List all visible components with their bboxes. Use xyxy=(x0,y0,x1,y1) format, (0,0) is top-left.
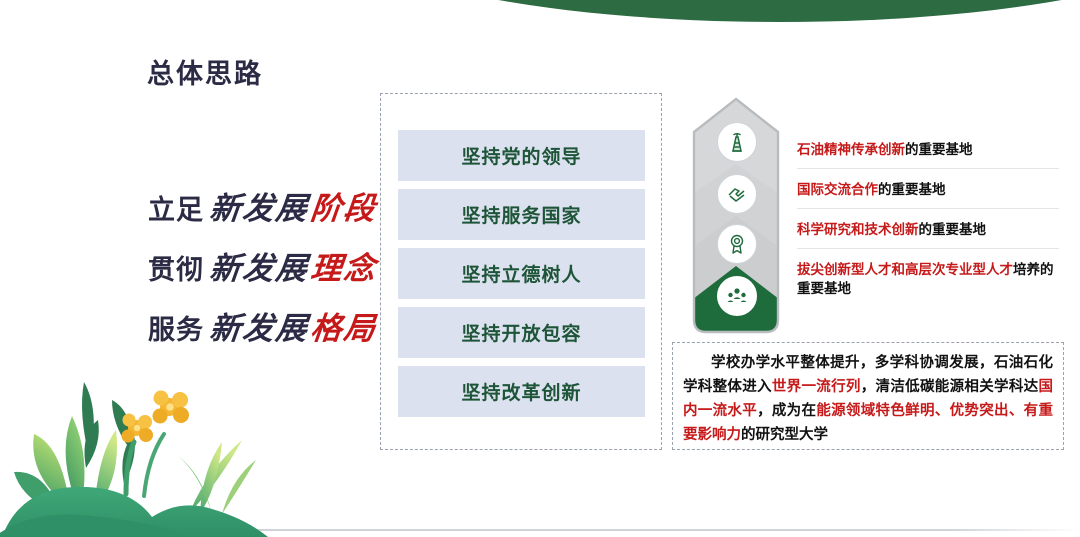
slogan-highlight: 阶段 xyxy=(309,183,380,228)
foliage-decoration xyxy=(0,362,294,537)
shield-diagram xyxy=(690,96,782,336)
page-title: 总体思路 xyxy=(147,52,263,91)
vision-statement-box: 学校办学水平整体提升，多学科协调发展，石油石化学科整体进入世界一流行列，清洁低碳… xyxy=(672,342,1064,450)
slogan-highlight: 格局 xyxy=(309,303,380,348)
principle-pill[interactable]: 坚持开放包容 xyxy=(398,307,645,358)
base-list-item: 科学研究和技术创新的重要基地 xyxy=(797,220,1059,249)
vision-seg: 的研究型大学 xyxy=(741,427,828,443)
handshake-icon xyxy=(717,174,757,214)
principles-list: 坚持党的领导 坚持服务国家 坚持立德树人 坚持开放包容 坚持改革创新 xyxy=(398,130,645,425)
principle-pill[interactable]: 坚持立德树人 xyxy=(398,248,645,299)
slogan-prefix: 立足 xyxy=(148,188,204,227)
principle-label: 坚持立德树人 xyxy=(461,260,581,287)
slogan-middle: 新发展 xyxy=(208,243,312,288)
base-item-emphasis: 拔尖创新型人才和高层次专业型人才 xyxy=(797,262,1013,277)
principle-pill[interactable]: 坚持服务国家 xyxy=(398,189,645,240)
base-item-suffix: 的重要基地 xyxy=(919,222,987,237)
base-item-emphasis: 国际交流合作 xyxy=(797,182,878,197)
top-green-arc-decoration xyxy=(330,0,1080,22)
slogan-middle: 新发展 xyxy=(208,303,312,348)
principle-pill[interactable]: 坚持改革创新 xyxy=(398,366,645,417)
vision-seg: ，成为在 xyxy=(757,403,816,419)
vision-statement-text: 学校办学水平整体提升，多学科协调发展，石油石化学科整体进入世界一流行列，清洁低碳… xyxy=(683,351,1053,447)
base-item-emphasis: 科学研究和技术创新 xyxy=(797,222,919,237)
principle-label: 坚持改革创新 xyxy=(461,378,581,405)
slogan-prefix: 服务 xyxy=(148,308,204,347)
vision-seg-emphasis: 世界一流行列 xyxy=(772,379,861,395)
slogan-highlight: 理念 xyxy=(309,243,380,288)
vision-seg: ，清洁低碳能源相关学科达 xyxy=(861,379,1039,395)
slogan-row: 立足 新发展 阶段 xyxy=(148,183,388,243)
base-list-text: 拔尖创新型人才和高层次专业型人才培养的重要基地 xyxy=(797,260,1059,298)
base-list-text: 科学研究和技术创新的重要基地 xyxy=(797,220,1059,239)
slogan-middle: 新发展 xyxy=(208,183,312,228)
principle-label: 坚持服务国家 xyxy=(461,201,581,228)
base-list-text: 石油精神传承创新的重要基地 xyxy=(797,140,1059,159)
principle-pill[interactable]: 坚持党的领导 xyxy=(398,130,645,181)
slogan-group: 立足 新发展 阶段 贯彻 新发展 理念 服务 新发展 格局 xyxy=(148,183,388,363)
foliage-illustration xyxy=(0,362,294,537)
slide-canvas: 总体思路 立足 新发展 阶段 贯彻 新发展 理念 服务 新发展 格局 坚持党的领… xyxy=(0,0,1080,537)
base-item-emphasis: 石油精神传承创新 xyxy=(797,142,905,157)
slogan-prefix: 贯彻 xyxy=(148,248,204,287)
base-list-item: 拔尖创新型人才和高层次专业型人才培养的重要基地 xyxy=(797,260,1059,307)
flower-icon xyxy=(153,391,190,424)
base-list-text: 国际交流合作的重要基地 xyxy=(797,180,1059,199)
base-list-item: 国际交流合作的重要基地 xyxy=(797,180,1059,209)
principle-label: 坚持开放包容 xyxy=(461,319,581,346)
base-list-item: 石油精神传承创新的重要基地 xyxy=(797,140,1059,169)
base-item-suffix: 的重要基地 xyxy=(905,142,973,157)
slogan-row: 服务 新发展 格局 xyxy=(148,303,388,363)
people-group-icon xyxy=(717,276,757,316)
medal-icon xyxy=(717,224,757,264)
base-list: 石油精神传承创新的重要基地 国际交流合作的重要基地 科学研究和技术创新的重要基地… xyxy=(797,140,1059,318)
oil-derrick-icon xyxy=(717,122,757,162)
base-item-suffix: 的重要基地 xyxy=(878,182,946,197)
slogan-row: 贯彻 新发展 理念 xyxy=(148,243,388,303)
principle-label: 坚持党的领导 xyxy=(461,142,581,169)
